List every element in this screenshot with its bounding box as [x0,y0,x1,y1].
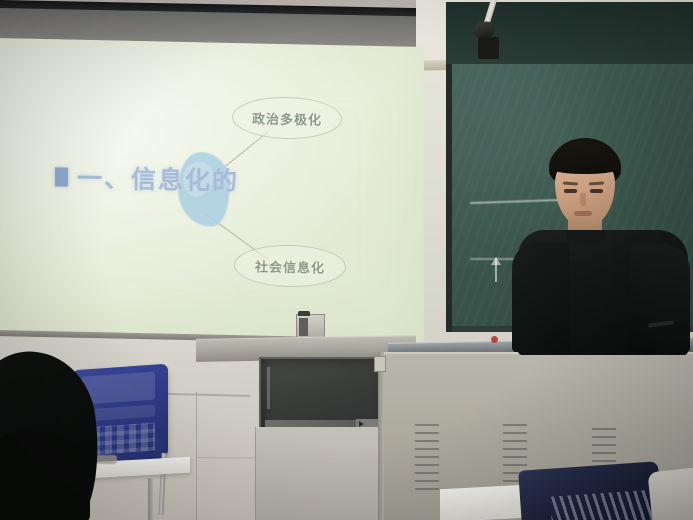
cabinet-vent [415,424,439,496]
mouth [574,211,592,216]
chair-mesh [550,489,657,520]
foreground-object [647,468,693,520]
podium-body [255,427,396,520]
slide-node-top: 政治多极化 [232,96,342,140]
nose [580,193,586,206]
red-marker-dot [491,336,498,343]
table-leg [148,478,153,520]
white-box [440,485,525,520]
collar [566,230,606,244]
chair-pad-upper [81,372,155,405]
slide-heading: 一、信息化的 [77,159,239,198]
blue-chair-foreground [518,461,662,520]
classroom-scene: 正当渠 遗嘱自 法定化 务实 罗化了取 思 一、信息化的 政治多极化 社会信息化 [0,0,693,520]
slide-heading-row: 一、信息化的 [55,158,239,197]
slide-node-bottom: 社会信息化 [234,244,346,288]
table-items [95,455,117,464]
cabinet-hinge [374,356,386,372]
eye-right [590,189,603,193]
arm-right [630,244,690,352]
square-bullet-icon [55,167,68,186]
eye-left [564,189,577,193]
monitor-glare [267,367,270,409]
presenter [500,138,693,353]
cabinet-edge [378,352,384,520]
arm-left [512,242,570,352]
hair-front [549,140,621,174]
